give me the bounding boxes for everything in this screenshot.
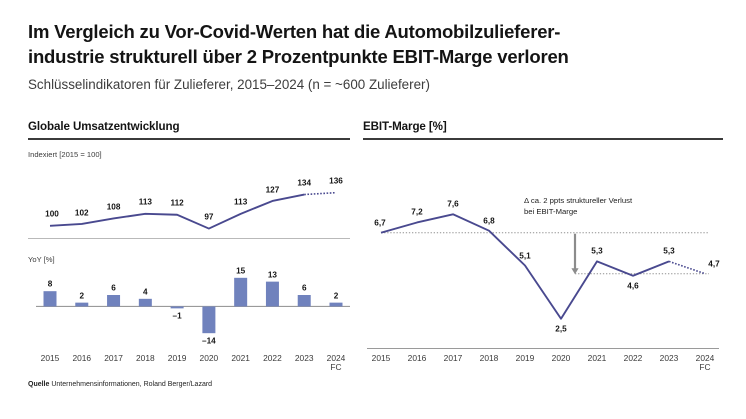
data-label-yoy: 8 <box>48 280 53 289</box>
data-label-ebit: 4,6 <box>627 281 638 290</box>
source-label: Quelle <box>28 381 49 388</box>
x-tick-label: 2019 <box>516 354 535 363</box>
x-tick-label: 2016 <box>408 354 427 363</box>
data-label-index: 102 <box>75 208 89 217</box>
panel-revenue-rule <box>28 138 350 140</box>
x-tick-label: 2020 <box>200 354 219 363</box>
data-label-yoy: –1 <box>173 312 182 321</box>
page-subtitle: Schlüsselindikatoren für Zulieferer, 201… <box>28 77 728 92</box>
x-axis-rule <box>367 348 719 349</box>
data-label-ebit: 7,6 <box>447 200 458 209</box>
data-label-yoy: 13 <box>268 270 277 279</box>
data-label-index: 112 <box>171 199 184 208</box>
x-tick-label: 2020 <box>552 354 571 363</box>
chart-yoy-svg <box>28 260 350 345</box>
data-label-index: 100 <box>45 210 59 219</box>
data-label-yoy: 6 <box>111 284 116 293</box>
x-tick-label: 2017 <box>444 354 463 363</box>
panel-ebit: EBIT-Marge [%] 6,77,27,66,85,12,55,34,65… <box>363 120 723 375</box>
x-tick-label: 2017 <box>104 354 123 363</box>
x-tick-label: 2024FC <box>696 354 715 373</box>
slide-root: Im Vergleich zu Vor-Covid-Werten hat die… <box>0 0 746 419</box>
ebit-delta-annotation: Δ ca. 2 ppts struktureller Verlust bei E… <box>524 196 704 217</box>
x-tick-label: 2018 <box>136 354 155 363</box>
x-tick-label: 2024FC <box>327 354 346 373</box>
data-label-index: 97 <box>204 213 213 222</box>
data-label-yoy: –14 <box>202 337 216 346</box>
panel-ebit-rule <box>363 138 723 140</box>
revenue-index-axis-note: Indexiert [2015 = 100] <box>28 150 350 159</box>
panel-ebit-title: EBIT-Marge [%] <box>363 120 723 138</box>
x-tick-label: 2019 <box>168 354 187 363</box>
data-label-index: 113 <box>139 198 152 207</box>
x-tick-label: 2022 <box>263 354 282 363</box>
x-tick-label: 2015 <box>41 354 60 363</box>
ebit-delta-annotation-line-1: Δ ca. 2 ppts struktureller Verlust <box>524 196 704 207</box>
data-label-ebit: 5,3 <box>591 247 602 256</box>
x-tick-label: 2018 <box>480 354 499 363</box>
data-label-yoy: 2 <box>79 291 84 300</box>
data-label-index: 113 <box>234 198 247 207</box>
panel-left-divider <box>28 238 350 239</box>
data-label-index: 127 <box>266 185 280 194</box>
page-title-line-1: Im Vergleich zu Vor-Covid-Werten hat die… <box>28 20 728 45</box>
data-label-index: 136 <box>329 177 343 186</box>
data-label-ebit: 7,2 <box>411 208 422 217</box>
x-tick-label: 2021 <box>231 354 250 363</box>
data-label-ebit: 5,3 <box>663 247 674 256</box>
data-label-index: 134 <box>297 179 311 188</box>
x-tick-label: 2016 <box>72 354 91 363</box>
data-label-ebit: 5,1 <box>519 251 530 260</box>
data-label-yoy: 4 <box>143 287 148 296</box>
source-note: Quelle Unternehmensinformationen, Roland… <box>28 381 212 388</box>
slide-header: Im Vergleich zu Vor-Covid-Werten hat die… <box>28 20 728 92</box>
data-label-ebit: 6,8 <box>483 216 494 225</box>
x-tick-label: 2022 <box>624 354 643 363</box>
x-tick-label: 2023 <box>295 354 314 363</box>
data-label-ebit: 2,5 <box>555 324 566 333</box>
panel-revenue: Globale Umsatzentwicklung Indexiert [201… <box>28 120 350 375</box>
data-label-index: 108 <box>107 203 121 212</box>
x-tick-label: 2015 <box>372 354 391 363</box>
data-label-yoy: 6 <box>302 284 307 293</box>
x-tick-label: 2023 <box>660 354 679 363</box>
data-label-ebit: 6,7 <box>374 218 385 227</box>
data-label-yoy: 15 <box>236 266 245 275</box>
chart-yoy-x-axis: 2015201620172018201920202021202220232024… <box>28 348 350 372</box>
chart-ebit-x-axis: 2015201620172018201920202021202220232024… <box>363 348 723 372</box>
page-title-line-2: industrie strukturell über 2 Prozentpunk… <box>28 45 728 70</box>
chart-global-revenue-index: 10010210811311297113127134136 <box>28 163 350 245</box>
chart-index-svg <box>28 163 350 245</box>
chart-revenue-yoy: 8264–1–14151362 <box>28 260 350 345</box>
data-label-yoy: 2 <box>334 291 339 300</box>
data-label-ebit: 4,7 <box>708 259 719 268</box>
source-text: Unternehmensinformationen, Roland Berger… <box>51 381 212 388</box>
panel-revenue-title: Globale Umsatzentwicklung <box>28 120 350 138</box>
x-tick-label: 2021 <box>588 354 607 363</box>
ebit-delta-annotation-line-2: bei EBIT-Marge <box>524 207 704 218</box>
